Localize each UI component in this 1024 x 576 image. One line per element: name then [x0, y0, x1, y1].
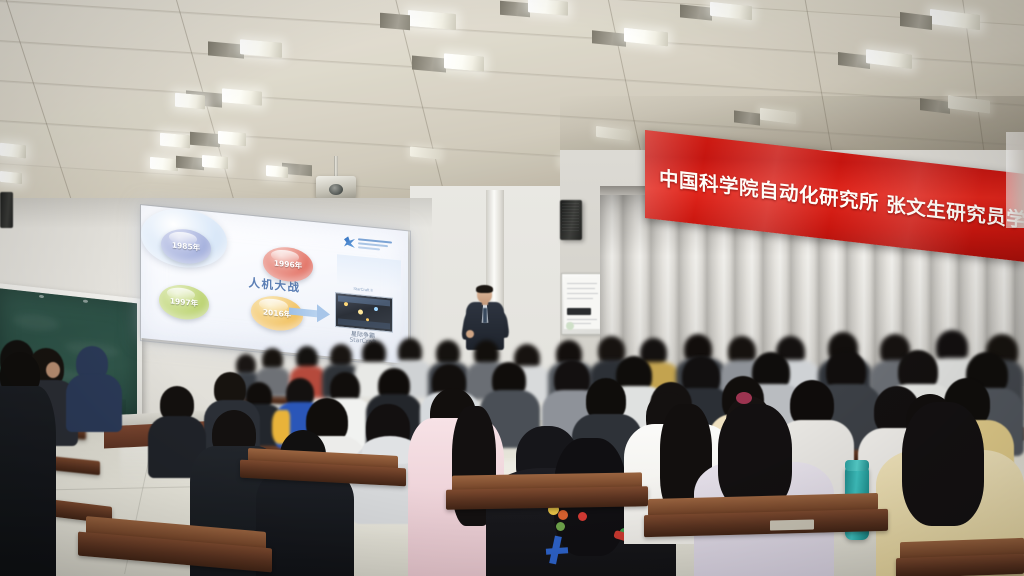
notice-board-seal: [566, 322, 574, 330]
presenter-tie: [483, 308, 487, 323]
audience-torso: [66, 374, 122, 432]
bench-row: [446, 486, 648, 510]
bench-label-plate: [770, 519, 814, 530]
embroidery-dot: [556, 522, 565, 531]
projector-lens-icon: [329, 184, 343, 195]
presenter-hand: [466, 330, 474, 338]
hair-tie: [736, 392, 752, 404]
speaker-grill: [562, 203, 579, 231]
presenter-hair: [476, 285, 493, 293]
audience-long-hair: [902, 402, 984, 526]
lecture-hall-photo: 中国科学院自动化研究所 张文生研究员学术报告会 人机大战 1: [0, 0, 1024, 576]
bench-row: [896, 554, 1024, 576]
audience-hand: [46, 362, 60, 378]
audience-torso: [0, 386, 56, 576]
projector-mount-pole: [334, 156, 338, 178]
thermos-cap: [845, 460, 869, 471]
notice-board-strip: [567, 308, 591, 315]
audience-long-hair: [718, 404, 792, 510]
embroidery-dot: [558, 510, 568, 520]
embroidery-dot: [578, 512, 587, 521]
banner-right-edge: [1006, 132, 1024, 228]
wall-speaker-left-icon: [0, 192, 13, 228]
